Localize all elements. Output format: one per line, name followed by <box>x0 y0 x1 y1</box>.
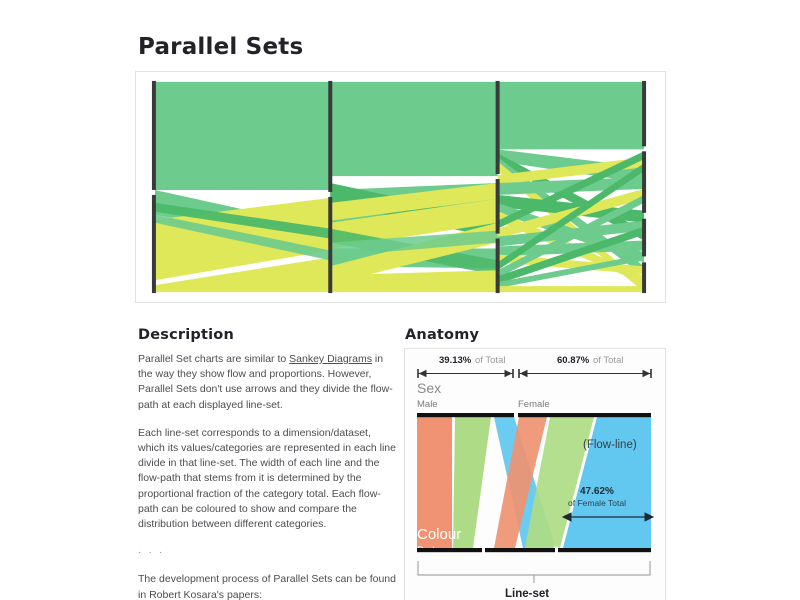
page-title: Parallel Sets <box>138 34 303 60</box>
section-heading-description: Description <box>138 327 234 343</box>
axis-bar-male <box>417 413 514 417</box>
category-label-female: Female <box>518 399 550 410</box>
flow-line-label: (Flow-line) <box>583 439 637 451</box>
axis-bar-blue <box>558 548 651 552</box>
hero-axis-4-seg-1 <box>642 81 646 146</box>
hero-axis-1-seg-2 <box>152 195 156 293</box>
hero-axis-4-seg-2 <box>642 151 646 212</box>
hero-axis-4-seg-4 <box>642 262 646 293</box>
measure-left-value: 39.13% <box>439 355 472 366</box>
anatomy-diagram: 39.13% of Total 60.87% of Total Sex Male… <box>405 349 666 600</box>
female-total-suffix: of Female Total <box>568 498 626 508</box>
hero-ribbons-band-2 <box>330 82 497 292</box>
description-separator: · · · <box>138 545 397 560</box>
hero-axis-4-seg-3 <box>642 219 646 257</box>
hero-chart-panel <box>135 71 666 303</box>
measure-right-suffix: of Total <box>593 355 623 366</box>
dimension-label-sex: Sex <box>417 380 441 396</box>
hero-axis-3-seg-1 <box>496 81 500 174</box>
hero-axis-3-seg-3 <box>496 239 500 294</box>
axis-bar-female <box>518 413 651 417</box>
category-label-male: Male <box>417 399 438 410</box>
female-total-value: 47.62% <box>580 486 614 497</box>
page-root: Parallel Sets <box>0 0 800 600</box>
description-paragraph-1-text-before: Parallel Set charts are similar to <box>138 353 289 365</box>
sankey-diagrams-link[interactable]: Sankey Diagrams <box>289 353 372 365</box>
measure-right-value: 60.87% <box>557 355 590 366</box>
axis-bar-red <box>417 548 482 552</box>
axis-bar-green <box>485 548 555 552</box>
description-column: Parallel Set charts are similar to Sanke… <box>138 352 397 600</box>
section-heading-anatomy: Anatomy <box>405 327 479 343</box>
line-set-label: Line-set <box>505 588 549 600</box>
measure-left-suffix: of Total <box>475 355 505 366</box>
parallel-sets-hero-chart <box>136 72 665 302</box>
hero-axis-2-seg-1 <box>328 81 332 192</box>
anatomy-panel: 39.13% of Total 60.87% of Total Sex Male… <box>404 348 666 600</box>
hero-axis-3-seg-2 <box>496 179 500 234</box>
hero-axis-2-seg-2 <box>328 197 332 293</box>
description-paragraph-3: The development process of Parallel Sets… <box>138 572 397 600</box>
dimension-label-colour: Colour <box>417 526 461 543</box>
hero-axis-1-seg-1 <box>152 81 156 190</box>
hero-ribbons-band-3 <box>498 82 644 292</box>
description-paragraph-1: Parallel Set charts are similar to Sanke… <box>138 352 397 413</box>
description-paragraph-2: Each line-set corresponds to a dimension… <box>138 426 397 532</box>
